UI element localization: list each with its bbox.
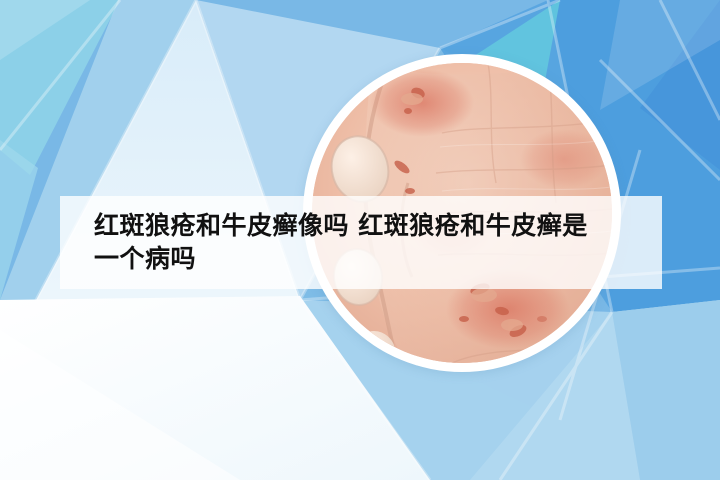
caption-line-1: 红斑狼疮和牛皮癣像吗 红斑狼疮和牛皮癣是 <box>94 211 654 241</box>
poster-canvas: 红斑狼疮和牛皮癣像吗 红斑狼疮和牛皮癣是 一个病吗 <box>0 0 720 480</box>
caption-line-2: 一个病吗 <box>94 244 654 274</box>
caption-text-block: 红斑狼疮和牛皮癣像吗 红斑狼疮和牛皮癣是 一个病吗 <box>94 196 654 289</box>
